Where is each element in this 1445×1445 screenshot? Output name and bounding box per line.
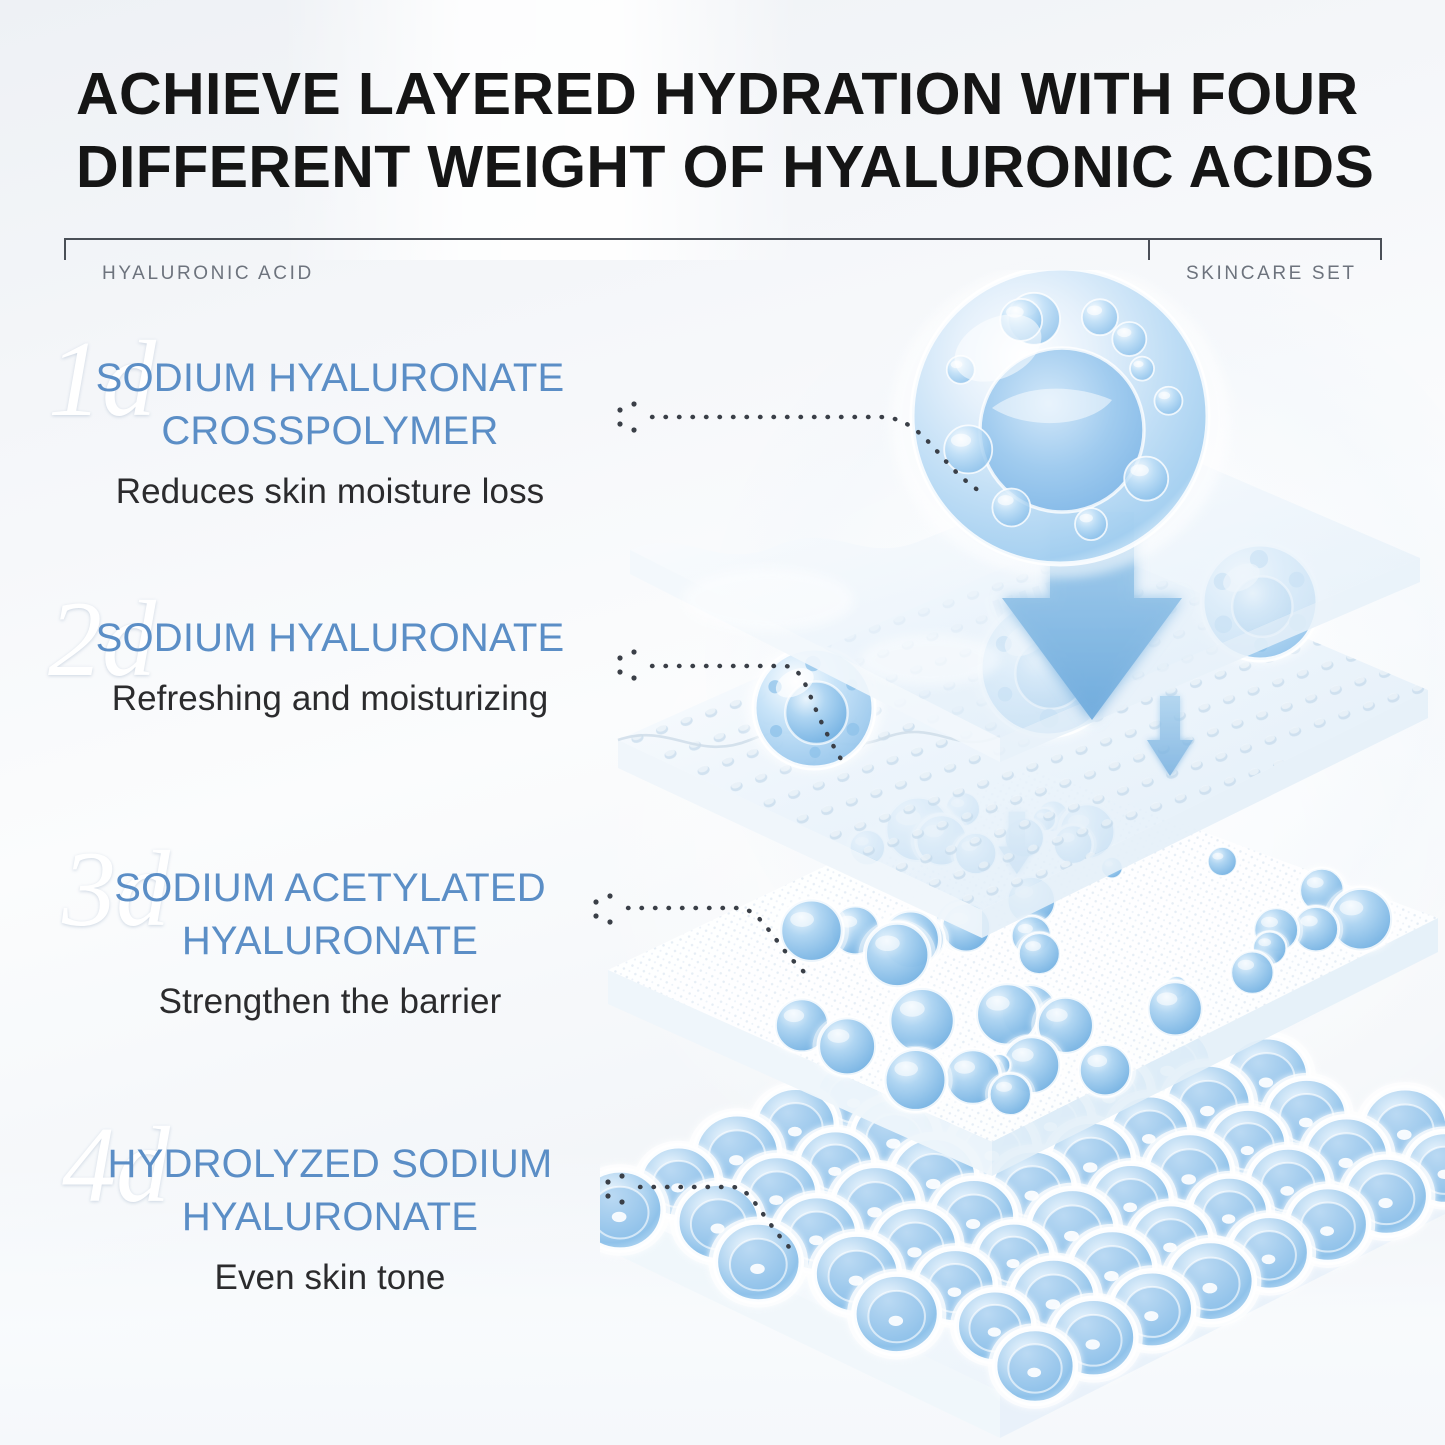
section-rule-bar: HYALURONIC ACID SKINCARE SET: [64, 238, 1382, 298]
rule-horizontal-line: [64, 238, 1382, 240]
item-title-3-line-2: HYALURONATE: [182, 919, 478, 963]
page-title: ACHIEVE LAYERED HYDRATION WITH FOUR DIFF…: [76, 58, 1376, 203]
layer-perforated-sheet: [600, 510, 1445, 950]
rule-label-skincare-set: SKINCARE SET: [1186, 263, 1357, 285]
arrow-large-down: [1002, 512, 1182, 720]
item-title-2: SODIUM HYALURONATE: [0, 612, 660, 665]
layer-top-sheet: [630, 446, 1420, 762]
item-title-4: HYDROLYZED SODIUM HYALURONATE: [0, 1138, 660, 1244]
background-glow: [705, 250, 1445, 1070]
ingredient-item-3: 3d SODIUM ACETYLATED HYALURONATE Strengt…: [0, 862, 660, 1024]
ingredient-item-4: 4d HYDROLYZED SODIUM HYALURONATE Even sk…: [0, 1138, 660, 1300]
rule-tick-left: [64, 238, 66, 260]
item-title-1-line-2: CROSSPOLYMER: [161, 409, 498, 453]
item-title-3-line-1: SODIUM ACETYLATED: [114, 866, 546, 910]
rule-tick-right: [1380, 238, 1382, 260]
layer-packed-cell-grid: [600, 968, 1445, 1438]
item-title-4-line-1: HYDROLYZED SODIUM: [108, 1142, 553, 1186]
ingredient-item-1: 1d SODIUM HYALURONATE CROSSPOLYMER Reduc…: [0, 352, 660, 514]
item-description-3: Strengthen the barrier: [0, 980, 660, 1024]
item-title-1-line-1: SODIUM HYALURONATE: [96, 356, 565, 400]
arrow-mid-down: [1147, 696, 1193, 776]
item-description-4: Even skin tone: [0, 1256, 660, 1300]
item-title-2-line-1: SODIUM HYALURONATE: [96, 616, 565, 660]
item-title-1: SODIUM HYALURONATE CROSSPOLYMER: [0, 352, 660, 458]
item-description-1: Reduces skin moisture loss: [0, 470, 660, 514]
headline-line-1: ACHIEVE LAYERED HYDRATION WITH FOUR: [76, 58, 1376, 131]
rule-label-hyaluronic-acid: HYALURONIC ACID: [102, 263, 314, 285]
arrow-small-down: [998, 812, 1035, 875]
layer-textured-sheet: [600, 730, 1445, 1190]
hydration-layers-illustration: [600, 270, 1445, 1445]
item-title-4-line-2: HYALURONATE: [182, 1195, 478, 1239]
item-description-2: Refreshing and moisturizing: [0, 677, 660, 721]
infographic-poster: ACHIEVE LAYERED HYDRATION WITH FOUR DIFF…: [0, 0, 1445, 1445]
big-hydration-sphere: [890, 270, 1230, 578]
rule-tick-middle: [1148, 238, 1150, 260]
item-title-3: SODIUM ACETYLATED HYALURONATE: [0, 862, 660, 968]
ingredient-item-2: 2d SODIUM HYALURONATE Refreshing and moi…: [0, 612, 660, 721]
leader-line-1: [612, 386, 1032, 516]
headline-line-2: DIFFERENT WEIGHT OF HYALURONIC ACIDS: [76, 131, 1376, 204]
